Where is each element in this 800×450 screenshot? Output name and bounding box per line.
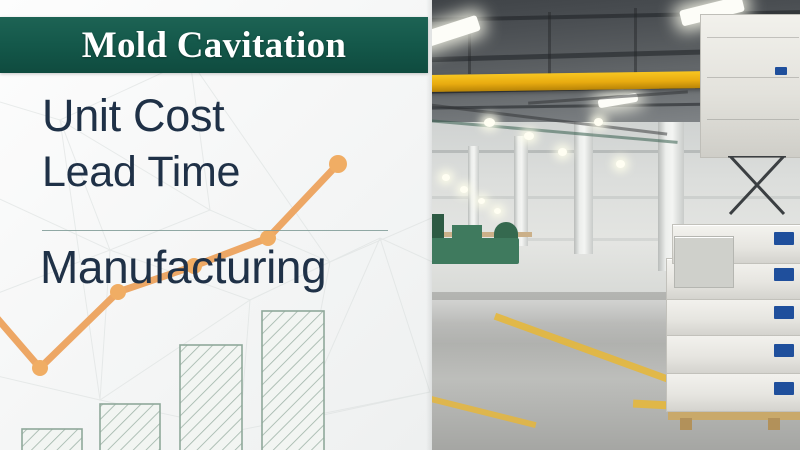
chart-bar <box>100 404 160 450</box>
high-bay-lamp <box>460 186 468 193</box>
panel-seam <box>707 77 799 78</box>
heading-divider <box>42 230 388 231</box>
page-title: Mold Cavitation <box>0 17 428 73</box>
panel-seam <box>707 119 799 120</box>
blue-label <box>774 306 794 319</box>
high-bay-lamp <box>616 160 625 168</box>
slide-canvas: Mold Cavitation Unit Cost Lead Time Manu… <box>0 0 800 450</box>
heading-lead-time: Lead Time <box>42 150 402 196</box>
control-panel <box>674 236 734 288</box>
truss-post <box>634 8 637 74</box>
pallet-block <box>768 418 780 430</box>
blue-label <box>775 67 787 75</box>
high-bay-lamp <box>524 132 534 140</box>
blue-label <box>774 344 794 357</box>
chart-bar <box>262 311 324 450</box>
green-machine <box>428 238 519 264</box>
pallet-block <box>680 418 692 430</box>
line-marker <box>32 360 48 376</box>
blue-label <box>774 232 794 245</box>
chart-bar <box>180 345 242 450</box>
high-bay-lamp <box>494 208 501 214</box>
high-bay-lamp <box>484 118 495 127</box>
suspended-equipment <box>700 14 800 158</box>
factory-column <box>574 122 593 254</box>
chart-bar <box>22 429 82 450</box>
panel-edge-shadow <box>426 0 432 450</box>
panel-seam <box>707 37 799 38</box>
heading-manufacturing: Manufacturing <box>40 240 326 294</box>
high-bay-lamp <box>594 118 603 126</box>
high-bay-lamp <box>478 198 485 204</box>
high-bay-lamp <box>558 148 567 156</box>
high-bay-lamp <box>442 174 450 181</box>
heading-block: Unit Cost Lead Time <box>42 92 402 195</box>
bar-group <box>22 311 324 450</box>
factory-photo <box>428 0 800 450</box>
title-banner: Mold Cavitation <box>0 17 428 73</box>
equipment-bracket <box>728 156 786 218</box>
truss-post <box>548 12 551 74</box>
heading-unit-cost: Unit Cost <box>42 92 402 140</box>
blue-label <box>774 382 794 395</box>
info-panel: Mold Cavitation Unit Cost Lead Time Manu… <box>0 0 432 450</box>
blue-label <box>774 268 794 281</box>
